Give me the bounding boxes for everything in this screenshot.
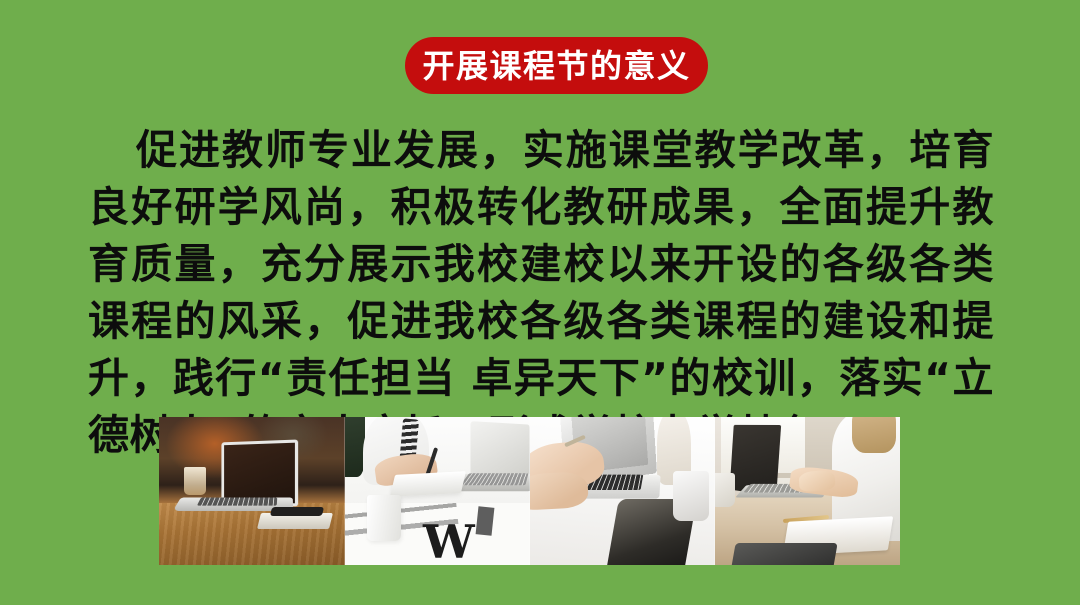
- photo-person-writing-beside-laptop: W: [345, 417, 530, 565]
- laptop-screen-icon: [221, 439, 298, 506]
- newspaper-sidetext: [476, 506, 495, 536]
- laptop-screen-icon: [471, 421, 530, 481]
- photo-2-content: W: [345, 417, 530, 565]
- photo-4-content: [715, 417, 900, 565]
- photo-laptop-on-wooden-table: [159, 417, 345, 565]
- water-glass-icon: [184, 467, 206, 495]
- photo-hands-typing-on-white-laptop: [530, 417, 715, 565]
- body-paragraph: 促进教师专业发展，实施课堂教学改革，培育良好研学风尚，积极转化教研成果，全面提升…: [88, 122, 994, 464]
- slide-canvas: 开展课程节的意义 促进教师专业发展，实施课堂教学改革，培育良好研学风尚，积极转化…: [0, 0, 1080, 605]
- notebook-icon: [390, 471, 466, 497]
- hair-icon: [852, 417, 896, 453]
- cup-icon: [673, 471, 709, 521]
- body-text-block: 促进教师专业发展，实施课堂教学改革，培育良好研学风尚，积极转化教研成果，全面提升…: [88, 122, 994, 464]
- backdrop-shadow: [345, 417, 365, 477]
- phone-icon: [270, 507, 324, 516]
- newspaper-letter-w: W: [423, 521, 467, 563]
- cup-icon: [715, 473, 735, 507]
- photo-woman-working-at-desk: [715, 417, 900, 565]
- photo-1-content: [159, 417, 345, 565]
- mug-icon: [367, 495, 401, 541]
- photo-strip: W: [159, 417, 900, 565]
- laptop-keyboard-icon: [197, 498, 277, 506]
- page-title: 开展课程节的意义: [422, 50, 690, 82]
- photo-3-content: [530, 417, 715, 565]
- laptop-keyboard-icon: [460, 473, 528, 485]
- tablet-icon: [730, 543, 837, 565]
- title-badge: 开展课程节的意义: [405, 37, 708, 94]
- hand-icon: [798, 470, 835, 492]
